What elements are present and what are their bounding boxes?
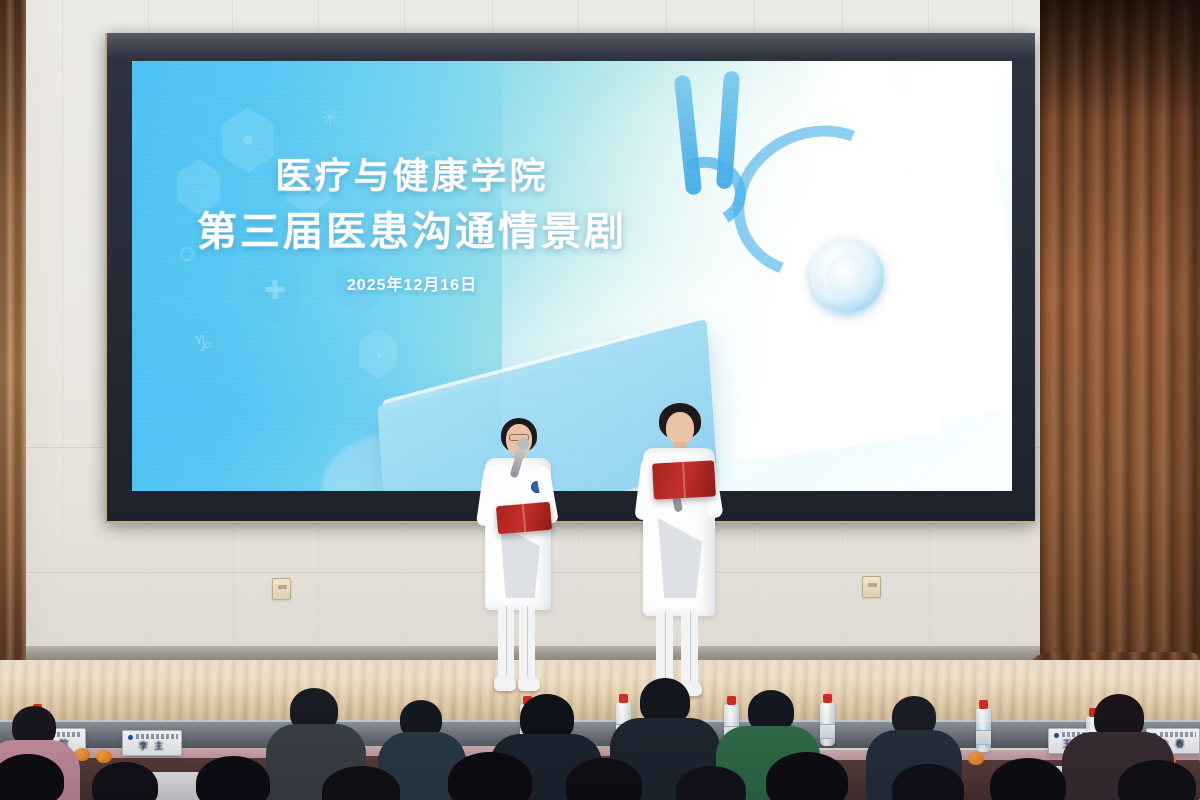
presenter-female-pant-right <box>519 606 535 678</box>
slide-title-line-2: 第三届医患沟通情景剧 <box>132 203 692 261</box>
presenter-female-folder <box>496 502 552 535</box>
presenter-male-pant-left <box>656 612 673 684</box>
screen-glare <box>107 33 1037 59</box>
stage-floor-sheen <box>0 660 1200 700</box>
led-display-screen: ● ⌴ ➕ ✚ ♑ ⚙ ◑ ✳ <box>105 33 1035 523</box>
presenter-female-shoe-left <box>494 676 516 691</box>
stage-curtain-left <box>0 0 26 672</box>
hex-icon-hands: ♑ <box>172 309 234 379</box>
curtain-top-shadow <box>1040 0 1200 120</box>
slide-date: 2025年12月16日 <box>132 271 692 295</box>
presentation-slide: ● ⌴ ➕ ✚ ♑ ⚙ ◑ ✳ <box>132 61 1012 491</box>
orange-fruit-4 <box>968 752 984 765</box>
water-bottle-7 <box>976 708 991 752</box>
namecard-2: 李 主 <box>122 730 182 756</box>
presenter-male-folder <box>652 460 716 499</box>
auditorium-scene: ● ⌴ ➕ ✚ ♑ ⚙ ◑ ✳ <box>0 0 1200 800</box>
wall-outlet-left <box>272 578 291 600</box>
water-bottle-6 <box>820 702 835 746</box>
slide-title-line-1: 医疗与健康学院 <box>132 149 692 203</box>
hex-icon-virus: ✳ <box>310 99 350 139</box>
presenter-female-shoe-right <box>518 676 540 691</box>
namecard-2-text: 李 主 <box>123 739 181 752</box>
slide-text-block: 医疗与健康学院 第三届医患沟通情景剧 2025年12月16日 <box>132 149 692 295</box>
wall-outlet-right <box>862 576 881 598</box>
orange-fruit-2 <box>96 750 112 763</box>
presenter-female-pant-left <box>498 606 514 678</box>
wall-baseboard <box>0 646 1200 660</box>
stethoscope-bell <box>810 239 884 313</box>
presenter-male-pant-right <box>681 612 698 684</box>
hex-icon-pill: ◑ <box>356 329 400 379</box>
presenter-male-head <box>666 412 694 445</box>
